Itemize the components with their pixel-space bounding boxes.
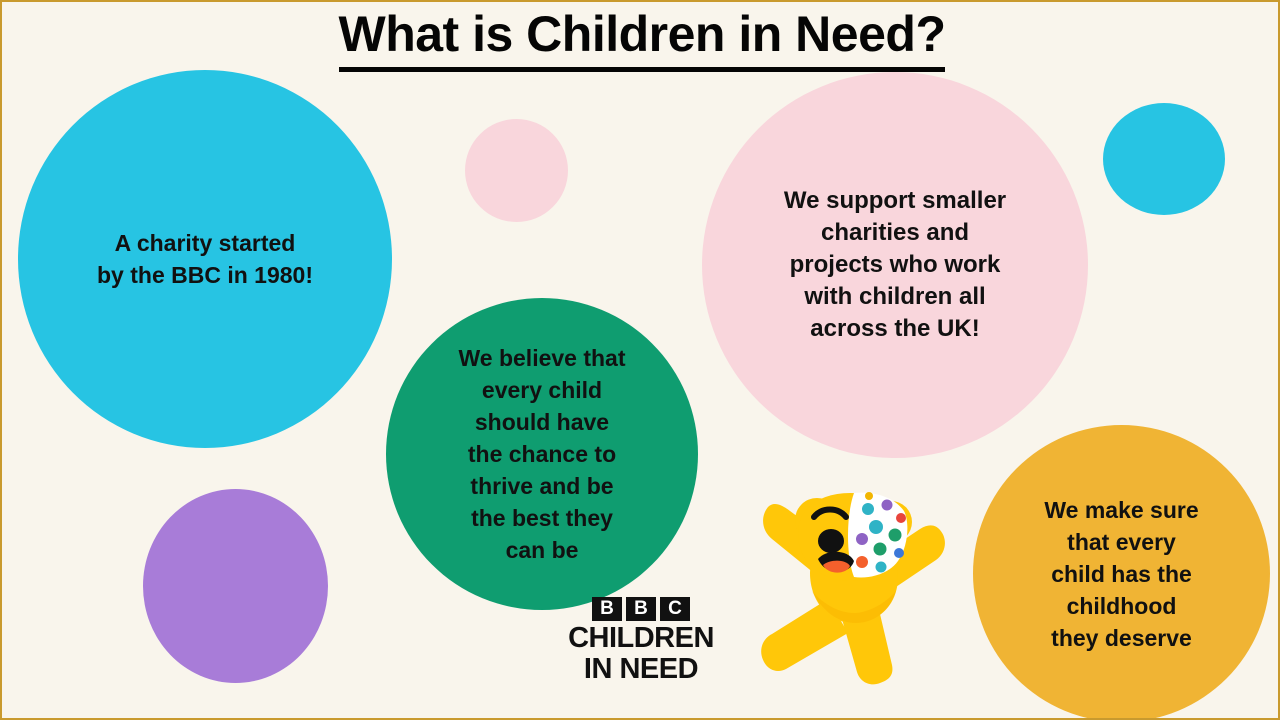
logo-line-in-need: IN NEED <box>565 656 717 683</box>
bbc-letter-box-1: B <box>592 597 622 621</box>
bubble-charity-started-text: A charity started by the BBC in 1980! <box>18 227 392 291</box>
bubble-decorative-purple <box>143 489 328 683</box>
pudsey-bear-icon <box>750 487 955 687</box>
bubble-decorative-cyan-small <box>1103 103 1225 215</box>
bbc-letter-box-2: B <box>626 597 656 621</box>
bbc-letter-box-3: C <box>660 597 690 621</box>
bubble-we-support-smaller-charities-text: We support smaller charities and project… <box>702 185 1088 345</box>
bubble-decorative-pink-small <box>465 119 568 222</box>
slide-canvas: What is Children in Need? A charity star… <box>0 0 1280 720</box>
bbc-children-in-need-logo: B B C CHILDREN IN NEED <box>565 597 717 683</box>
logo-line-children: CHILDREN <box>565 625 717 652</box>
page-title-text: What is Children in Need? <box>339 6 946 72</box>
bubble-we-believe-every-child: We believe that every child should have … <box>386 298 698 610</box>
bubble-charity-started: A charity started by the BBC in 1980! <box>18 70 392 448</box>
bubble-we-make-sure-childhood-text: We make sure that every child has the ch… <box>973 494 1270 654</box>
bubble-we-support-smaller-charities: We support smaller charities and project… <box>702 72 1088 458</box>
bubble-we-make-sure-childhood: We make sure that every child has the ch… <box>973 425 1270 720</box>
bbc-logo-boxes: B B C <box>565 597 717 621</box>
page-title: What is Children in Need? <box>2 4 1280 64</box>
bubble-we-believe-every-child-text: We believe that every child should have … <box>386 342 698 566</box>
